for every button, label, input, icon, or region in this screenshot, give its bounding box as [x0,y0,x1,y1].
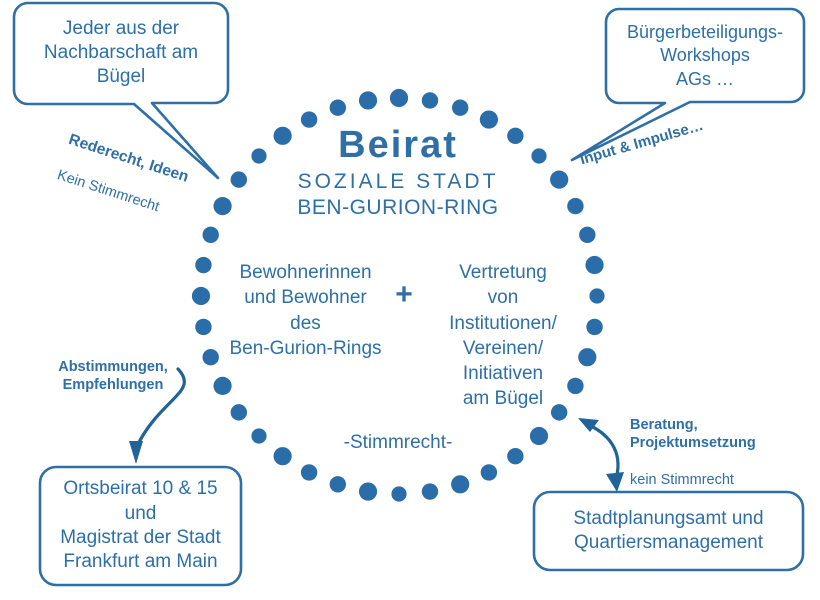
subtitle-line-2: BEN-GURION-RING [248,196,548,220]
ring-dot [231,404,247,420]
ring-dot [231,171,247,187]
edge-label-abstimmungen: Abstimmungen, Empfehlungen [48,358,178,394]
arrow-ring-stadtplanungsamt [578,418,624,492]
edge-label-beratung: Beratung, Projektumsetzung kein Stimmrec… [630,398,790,507]
ring-column-institutions: Vertretung von Institutionen/ Vereinen/ … [428,260,578,412]
center-title-block: Beirat SOZIALE STADT BEN-GURION-RING [248,126,548,220]
ring-dot [550,171,568,189]
callout-top-right-text: Bürgerbeteiligungs- Workshops AGs … [605,10,805,102]
ring-dot [422,92,438,108]
edge-label-beratung-plain: kein Stimmrecht [630,471,790,489]
ring-dot [391,486,406,501]
ring-dot [359,482,377,500]
ring-dot [589,288,604,303]
ring-dot [530,427,548,445]
callout-top-left-text: Jeder aus der Nachbarschaft am Bügel [14,2,228,104]
ring-dot [567,198,583,214]
ring-dot [390,89,408,107]
ring-footer-stimmrecht: -Stimmrecht- [318,432,478,454]
ring-dot [422,483,438,499]
plus-icon: + [390,280,418,310]
ring-dot [330,476,346,492]
ring-column-residents: Bewohnerinnen und Bewohner des Ben-Gurio… [218,260,393,361]
ring-dot [202,349,218,365]
ring-dot [274,447,292,465]
ring-dot [251,428,266,443]
page-title: Beirat [248,126,548,166]
ring-dot [579,227,595,243]
edge-label-input-impulse: Input & Impulse… [578,117,706,170]
edge-label-rederecht: Rederecht, Ideen Kein Stimmrecht [49,112,197,240]
ring-dot [507,448,523,464]
ring-dot [213,197,231,215]
box-bottom-left-text: Ortsbeirat 10 & 15 und Magistrat der Sta… [40,467,241,585]
edge-label-beratung-bold: Beratung, Projektumsetzung [630,416,790,452]
diagram-canvas: Jeder aus der Nachbarschaft am Bügel Bür… [0,0,820,600]
ring-dot [213,377,231,395]
ring-dot [192,287,210,305]
ring-dot [195,319,211,335]
ring-dot [359,91,377,109]
ring-dot [585,256,603,274]
subtitle-line-1: SOZIALE STADT [248,170,548,194]
ring-dot [202,227,218,243]
ring-dot [578,348,596,366]
ring-dot [195,257,211,273]
ring-dot [452,99,468,115]
ring-dot [301,464,317,480]
ring-dot [330,99,346,115]
ring-dot [451,475,469,493]
ring-dot [481,464,497,480]
ring-dot [586,319,602,335]
